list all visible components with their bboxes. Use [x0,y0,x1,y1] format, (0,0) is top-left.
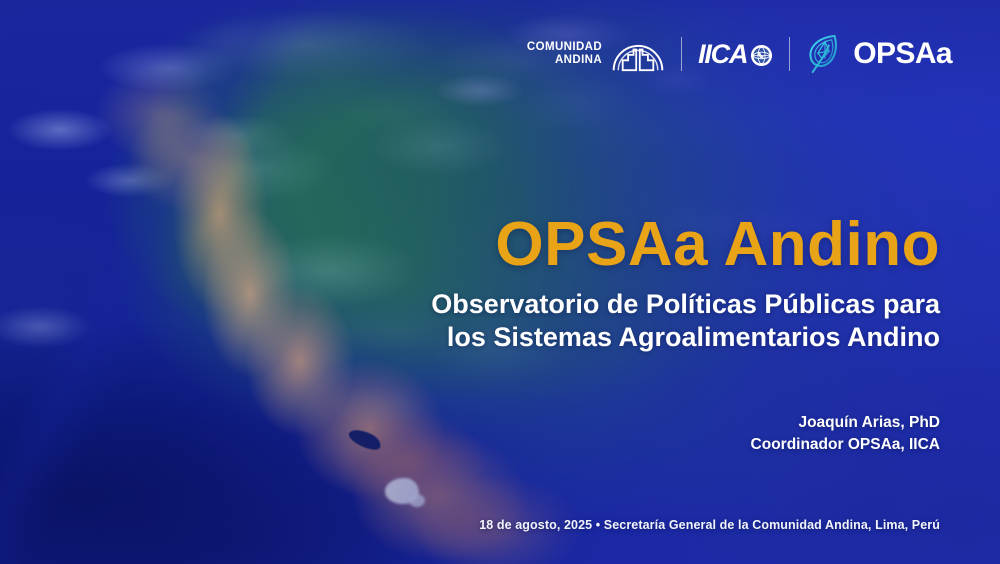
page-title: OPSAa Andino [300,212,940,278]
subtitle-line-2: los Sistemas Agroalimentarios Andino [300,321,940,354]
subtitle-line-1: Observatorio de Políticas Públicas para [300,288,940,321]
leaf-icon [806,32,844,76]
slide-content: OPSAa Andino Observatorio de Políticas P… [300,0,940,564]
iica-logo: IICA [698,41,773,68]
globe-icon [750,44,773,67]
logo-bar: COMUNIDAD ANDINA IICA [527,32,952,76]
slide-footer: 18 de agosto, 2025 • Secretaría General … [300,518,940,532]
comunidad-andina-logo: COMUNIDAD ANDINA [527,36,665,72]
can-line-1: COMUNIDAD [527,41,602,54]
iica-wordmark: IICA [698,41,747,68]
logo-divider-2 [789,37,790,71]
logo-divider-1 [681,37,682,71]
title-slide: COMUNIDAD ANDINA IICA [0,0,1000,564]
opsaa-logo: OPSAa [806,32,952,76]
author-name: Joaquín Arias, PhD [300,412,940,434]
page-subtitle: Observatorio de Políticas Públicas para … [300,288,940,354]
opsaa-wordmark: OPSAa [853,39,952,69]
author-role: Coordinador OPSAa, IICA [300,434,940,456]
author-block: Joaquín Arias, PhD Coordinador OPSAa, II… [300,412,940,456]
comunidad-andina-wordmark: COMUNIDAD ANDINA [527,41,602,67]
andean-arch-icon [611,36,665,72]
can-line-2: ANDINA [527,54,602,67]
